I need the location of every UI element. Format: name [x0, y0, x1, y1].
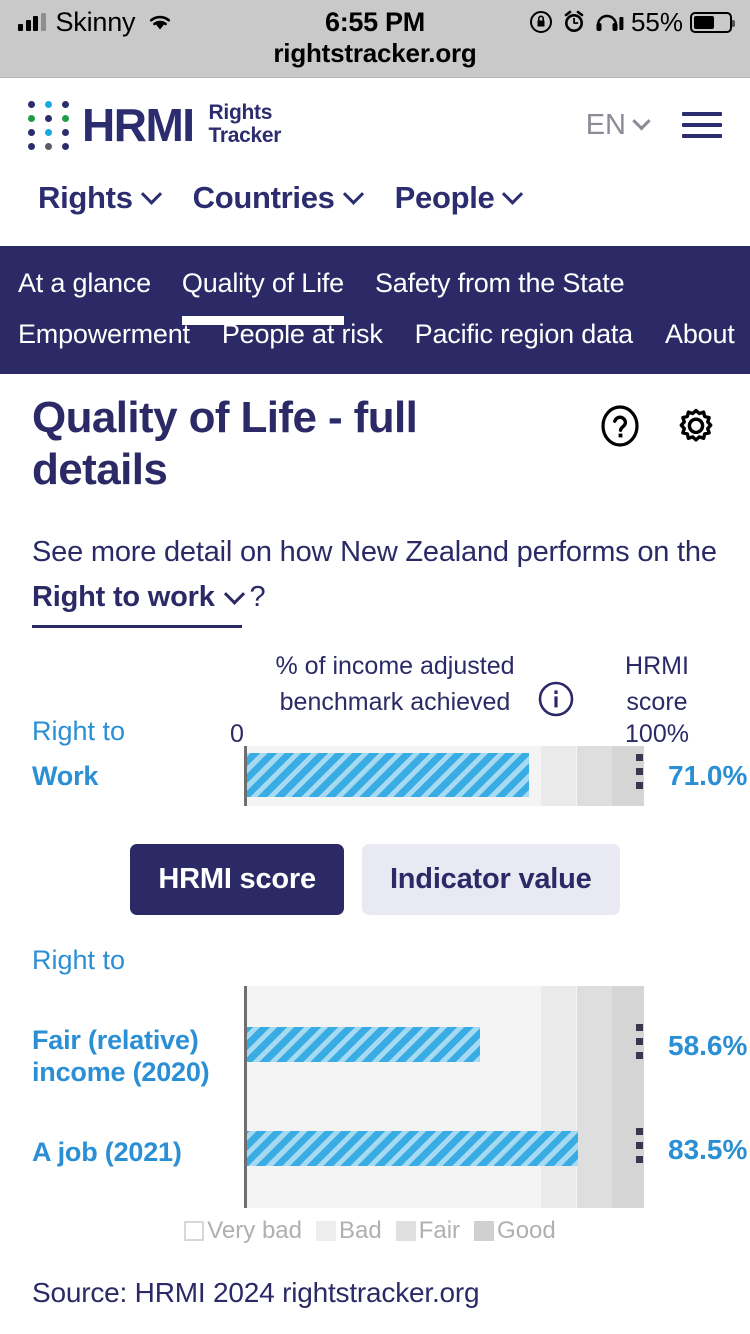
headphones-icon [594, 9, 624, 35]
lede-prefix: See more detail on how New Zealand perfo… [32, 536, 717, 568]
row-label-work[interactable]: Work [32, 760, 98, 792]
nav-item-countries[interactable]: Countries [193, 180, 361, 216]
chevron-down-icon [632, 112, 650, 130]
band-fair [577, 746, 613, 806]
axis-min-label: 0 [230, 720, 244, 749]
tab-pacific-region-data[interactable]: Pacific region data [415, 319, 633, 356]
plot-area [244, 746, 644, 806]
logo-subtitle-line1: Rights [209, 101, 273, 124]
language-selector[interactable]: EN [586, 109, 648, 142]
nav-label: People [395, 180, 495, 216]
tab-at-a-glance[interactable]: At a glance [18, 268, 151, 305]
page-title: Quality of Life - full details [32, 392, 502, 496]
rotation-lock-icon [528, 9, 554, 35]
legend-swatch [396, 1221, 416, 1241]
site-header: HRMI Rights Tracker EN [0, 78, 750, 172]
band-bad [541, 986, 577, 1208]
toggle-indicator-value[interactable]: Indicator value [362, 844, 620, 915]
band-very-bad [247, 986, 541, 1208]
nav-item-people[interactable]: People [395, 180, 521, 216]
lede-suffix: ? [250, 581, 266, 613]
header-actions: EN [586, 109, 722, 142]
chart-legend: Very bad Bad Fair Good [32, 1217, 718, 1245]
value-label-a-job: 83.5% [668, 1134, 747, 1166]
battery-percent-label: 55% [631, 7, 683, 38]
wifi-icon [145, 10, 175, 34]
logo-subtitle-line2: Tracker [209, 124, 282, 147]
legend-label: Very bad [207, 1217, 302, 1245]
benchmark-marker [636, 1128, 643, 1168]
row-label-fair-relative-income[interactable]: Fair (relative) income (2020) [32, 1024, 232, 1089]
row-label-a-job[interactable]: A job (2021) [32, 1136, 232, 1168]
alarm-icon [561, 9, 587, 35]
legend-swatch [474, 1221, 494, 1241]
primary-navigation: Rights Countries People [0, 172, 750, 246]
chevron-down-icon [502, 183, 523, 204]
tab-people-at-risk[interactable]: People at risk [222, 319, 383, 356]
logo-wordmark: HRMI [82, 102, 194, 148]
chevron-down-icon [343, 183, 364, 204]
status-right-group: 55% [528, 7, 732, 38]
score-column-header: HRMI score [592, 648, 722, 721]
hamburger-menu-button[interactable] [682, 112, 722, 138]
plot-area [244, 986, 644, 1208]
band-bad [541, 746, 577, 806]
right-selector-label: Right to work [32, 581, 215, 613]
chart-header: % of income adjusted benchmark achieved … [32, 648, 718, 746]
lede-paragraph: See more detail on how New Zealand perfo… [32, 530, 718, 628]
metric-toggle-group: HRMI score Indicator value [32, 844, 718, 915]
bar-a-job[interactable] [247, 1131, 578, 1166]
tab-safety-from-the-state[interactable]: Safety from the State [375, 268, 624, 305]
right-selector-dropdown[interactable]: Right to work [32, 575, 242, 628]
legend-item-very-bad: Very bad [184, 1217, 302, 1245]
legend-swatch [184, 1221, 204, 1241]
band-good [612, 986, 644, 1208]
legend-label: Fair [419, 1217, 460, 1245]
gear-icon[interactable] [674, 404, 718, 448]
benchmark-marker [636, 1024, 643, 1064]
tab-row-primary: At a glance Quality of Life Safety from … [0, 268, 750, 305]
info-circle-icon[interactable] [537, 680, 575, 718]
page-header-row: Quality of Life - full details [32, 392, 718, 496]
toggle-hrmi-score[interactable]: HRMI score [130, 844, 344, 915]
score-header-line2: score [626, 688, 687, 716]
value-label-work: 71.0% [668, 760, 747, 792]
logo-subtitle: Rights Tracker [209, 102, 282, 147]
benchmark-marker [636, 754, 643, 796]
tab-quality-of-life[interactable]: Quality of Life [182, 268, 344, 305]
summary-chart: % of income adjusted benchmark achieved … [32, 648, 718, 812]
carrier-label: Skinny [56, 7, 136, 38]
status-left-group: Skinny [18, 7, 175, 38]
nav-item-rights[interactable]: Rights [38, 180, 159, 216]
band-fair [577, 986, 613, 1208]
value-label-fair-relative-income: 58.6% [668, 1030, 747, 1062]
group-label-right-to: Right to [32, 716, 125, 747]
legend-swatch [316, 1221, 336, 1241]
nav-label: Countries [193, 180, 335, 216]
group-label-right-to-2: Right to [32, 945, 718, 976]
score-header-line1: HRMI [625, 652, 689, 680]
source-attribution: Source: HRMI 2024 rightstracker.org [32, 1277, 718, 1309]
summary-plot-row: Work 71.0% [32, 746, 718, 812]
legend-item-bad: Bad [316, 1217, 382, 1245]
bar-work[interactable] [247, 753, 529, 797]
help-circle-icon[interactable] [598, 404, 642, 448]
tab-empowerment[interactable]: Empowerment [18, 319, 190, 356]
section-tab-bar: At a glance Quality of Life Safety from … [0, 246, 750, 374]
logo-dots-icon [28, 101, 71, 150]
ios-status-bar: Skinny 6:55 PM [0, 0, 750, 78]
axis-max-label: 100% [592, 720, 722, 749]
tab-about[interactable]: About [665, 319, 735, 356]
page-content: Quality of Life - full details See more … [0, 374, 750, 1309]
signal-icon [18, 13, 46, 31]
browser-url-label: rightstracker.org [0, 38, 750, 69]
legend-label: Bad [339, 1217, 382, 1245]
x-axis-label: % of income adjusted benchmark achieved [270, 648, 520, 721]
indicator-chart: Right to Fair (relative) income (2020) 5… [32, 945, 718, 1245]
hrmi-logo[interactable]: HRMI Rights Tracker [28, 101, 281, 150]
nav-label: Rights [38, 180, 133, 216]
tab-row-secondary: Empowerment People at risk Pacific regio… [0, 319, 750, 356]
indicator-plot-row: Fair (relative) income (2020) 58.6% A jo… [32, 986, 718, 1208]
bar-fair-relative-income[interactable] [247, 1027, 480, 1062]
legend-label: Good [497, 1217, 556, 1245]
legend-item-good: Good [474, 1217, 556, 1245]
chevron-down-icon [224, 583, 245, 604]
chevron-down-icon [141, 183, 162, 204]
battery-icon [690, 12, 732, 33]
status-bar-top-row: Skinny 6:55 PM [0, 0, 750, 40]
legend-item-fair: Fair [396, 1217, 460, 1245]
language-label: EN [586, 109, 626, 142]
page-header-actions [598, 392, 718, 448]
